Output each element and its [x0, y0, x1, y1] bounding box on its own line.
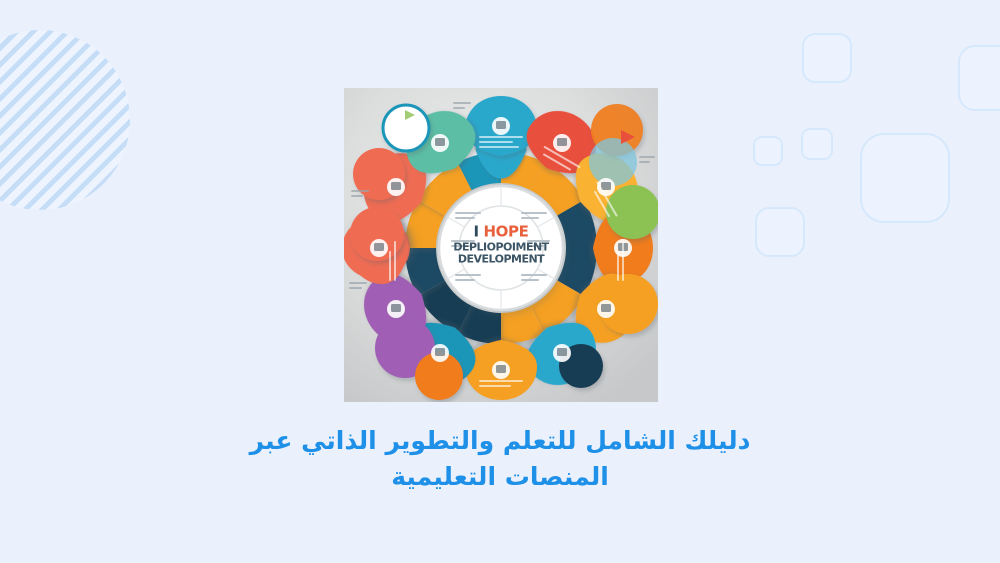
- caption-block: دليلك الشامل للتعلم والتطوير الذاتي عبر …: [0, 423, 1000, 495]
- rounded-square-decoration: [801, 128, 833, 160]
- hub-line-1-prefix: I: [474, 223, 484, 241]
- infographic-canvas: I HOPE DEPLIOPOIMENT DEVELOPMENT: [344, 88, 658, 402]
- hub-line-3: DEVELOPMENT: [441, 254, 561, 266]
- rounded-square-decoration: [958, 45, 1000, 111]
- caption-line-1: دليلك الشامل للتعلم والتطوير الذاتي عبر: [0, 423, 1000, 459]
- rounded-square-decoration: [860, 133, 950, 223]
- infographic-hub-label: I HOPE DEPLIOPOIMENT DEVELOPMENT: [441, 225, 561, 266]
- rounded-square-decoration: [802, 33, 852, 83]
- rounded-square-decoration: [755, 207, 805, 257]
- rounded-square-decoration: [753, 136, 783, 166]
- hub-line-2: DEPLIOPOIMENT: [441, 241, 561, 253]
- striped-circle-decoration: [0, 30, 130, 210]
- infographic-figure: I HOPE DEPLIOPOIMENT DEVELOPMENT: [344, 88, 658, 402]
- caption-line-2: المنصات التعليمية: [0, 459, 1000, 495]
- hub-line-1: I HOPE: [441, 225, 561, 241]
- slide-canvas: I HOPE DEPLIOPOIMENT DEVELOPMENT دليلك ا…: [0, 0, 1000, 563]
- hub-line-1-word: HOPE: [484, 223, 529, 241]
